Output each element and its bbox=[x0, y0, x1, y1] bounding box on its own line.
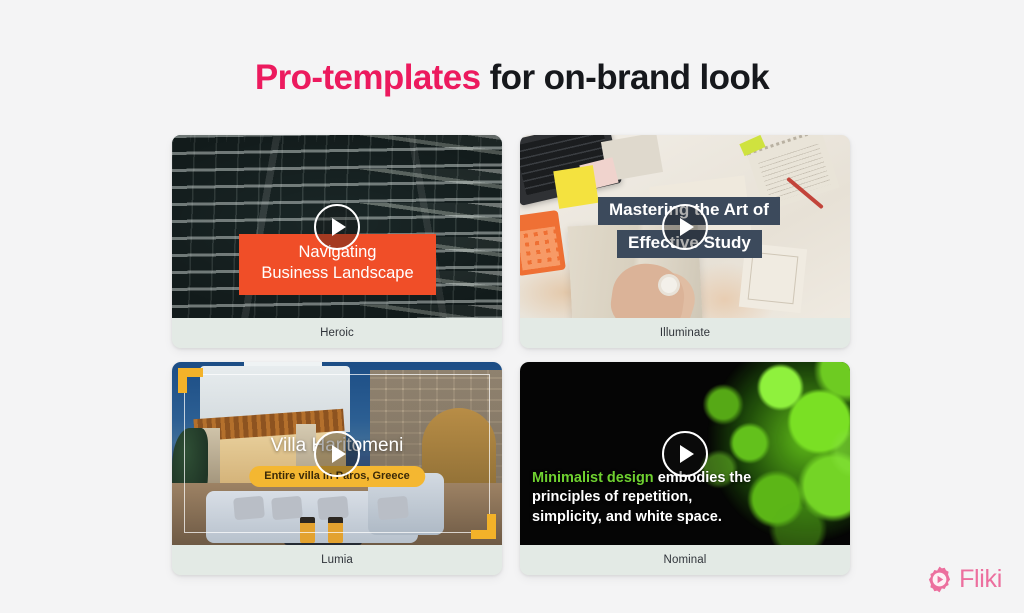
template-label-nominal: Nominal bbox=[520, 545, 850, 575]
template-card-nominal[interactable]: Minimalist design embodies the principle… bbox=[520, 362, 850, 575]
template-card-lumia[interactable]: Villa Haritomeni Entire villa in Paros, … bbox=[172, 362, 502, 575]
play-triangle-icon bbox=[680, 218, 694, 236]
yellow-sticky-note bbox=[553, 165, 598, 209]
page-title: Pro-templates for on-brand look bbox=[0, 0, 1024, 98]
nominal-caption-line-2: principles of repetition, bbox=[532, 488, 751, 507]
nominal-caption-line-1-rest: embodies the bbox=[654, 470, 752, 486]
template-card-illuminate[interactable]: Mastering the Art of Effective Study Ill… bbox=[520, 135, 850, 348]
fliki-wordmark: Fliki bbox=[959, 567, 1002, 592]
page-title-rest: for on-brand look bbox=[480, 58, 769, 97]
play-icon[interactable] bbox=[314, 204, 360, 250]
play-triangle-icon bbox=[332, 218, 346, 236]
play-triangle-icon bbox=[680, 445, 694, 463]
calculator-object bbox=[520, 210, 566, 276]
template-preview-heroic[interactable]: Navigating Business Landscape bbox=[172, 135, 502, 318]
nominal-caption-line-3: simplicity, and white space. bbox=[532, 508, 751, 527]
play-triangle-icon bbox=[332, 445, 346, 463]
template-preview-nominal[interactable]: Minimalist design embodies the principle… bbox=[520, 362, 850, 545]
template-preview-illuminate[interactable]: Mastering the Art of Effective Study bbox=[520, 135, 850, 318]
template-card-heroic[interactable]: Navigating Business Landscape Heroic bbox=[172, 135, 502, 348]
nominal-caption-highlight: Minimalist design bbox=[532, 470, 654, 486]
fliki-gear-play-icon bbox=[926, 566, 953, 593]
play-icon[interactable] bbox=[662, 431, 708, 477]
template-label-illuminate: Illuminate bbox=[520, 318, 850, 348]
template-label-lumia: Lumia bbox=[172, 545, 502, 575]
fliki-logo[interactable]: Fliki bbox=[926, 566, 1002, 593]
play-icon[interactable] bbox=[314, 431, 360, 477]
template-grid: Navigating Business Landscape Heroic bbox=[172, 135, 852, 575]
heroic-title-line-2: Business Landscape bbox=[245, 263, 430, 284]
page-title-accent: Pro-templates bbox=[255, 58, 481, 97]
nominal-caption-line-1: Minimalist design embodies the bbox=[532, 469, 751, 488]
template-preview-lumia[interactable]: Villa Haritomeni Entire villa in Paros, … bbox=[172, 362, 502, 545]
nominal-caption: Minimalist design embodies the principle… bbox=[532, 469, 751, 527]
play-icon[interactable] bbox=[662, 204, 708, 250]
template-label-heroic: Heroic bbox=[172, 318, 502, 348]
